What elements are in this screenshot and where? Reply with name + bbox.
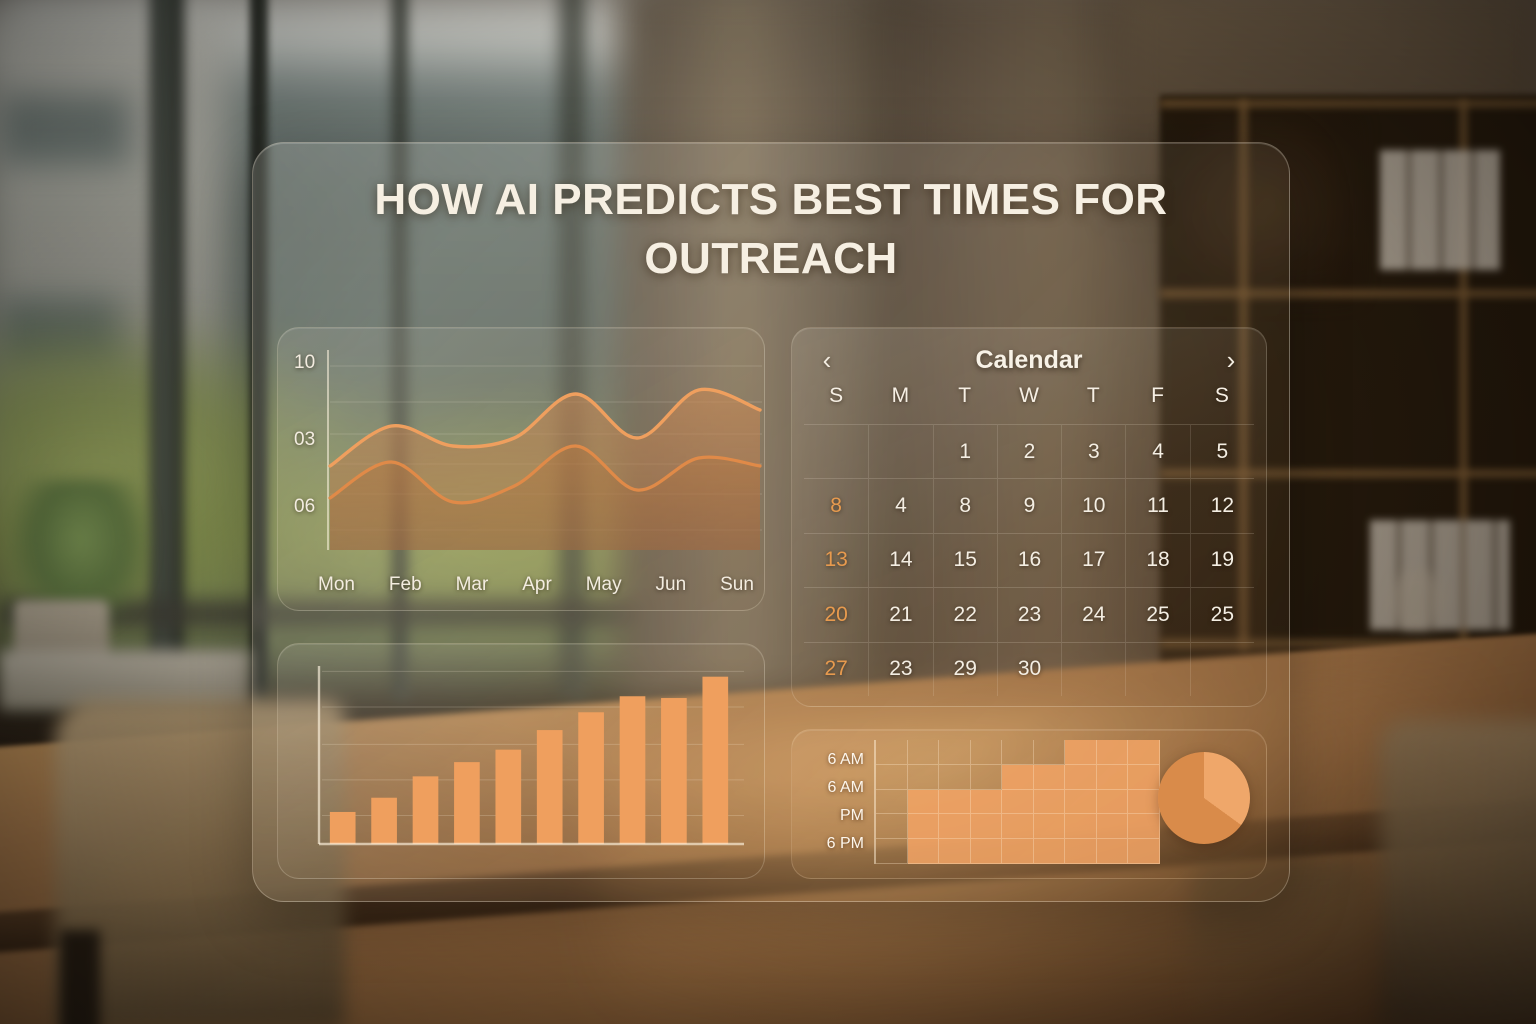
- area-chart-ytick-03: 03: [294, 429, 315, 451]
- area-chart-ytick-06: 06: [294, 496, 315, 518]
- calendar-empty-cell: [804, 424, 868, 478]
- calendar-weekday-5: F: [1125, 384, 1189, 418]
- calendar-weekday-6: S: [1190, 384, 1254, 418]
- calendar-day-cell[interactable]: 18: [1125, 533, 1189, 587]
- heatmap-cell: [971, 839, 1003, 864]
- bar-chart-bar: [371, 798, 397, 844]
- calendar-header: ‹ Calendar ›: [792, 342, 1266, 378]
- calendar-day-cell[interactable]: 20: [804, 587, 868, 641]
- calendar-day-cell[interactable]: 22: [933, 587, 997, 641]
- heatmap-cell: [971, 740, 1003, 765]
- calendar-weekday-3: W: [997, 384, 1061, 418]
- heatmap-cell: [908, 740, 940, 765]
- calendar-day-cell[interactable]: 12: [1190, 478, 1254, 532]
- calendar-day-cell[interactable]: 10: [1061, 478, 1125, 532]
- heatmap-row-labels: 6 AM6 AMPM6 PM: [802, 746, 864, 858]
- calendar-day-cell[interactable]: 2: [997, 424, 1061, 478]
- heatmap-cell: [939, 740, 971, 765]
- heatmap-cell: [1128, 790, 1160, 815]
- calendar-card: ‹ Calendar › SMTWTFS 1234584891011121314…: [791, 327, 1267, 707]
- heatmap-cell: [1097, 765, 1129, 790]
- heatmap-cell: [939, 839, 971, 864]
- calendar-day-grid[interactable]: 1234584891011121314151617181920212223242…: [804, 424, 1254, 696]
- area-chart-xtick-6: Sun: [720, 574, 754, 596]
- bar-chart-bar: [661, 698, 687, 844]
- calendar-empty-cell: [1125, 642, 1189, 696]
- calendar-day-cell[interactable]: 30: [997, 642, 1061, 696]
- calendar-day-cell[interactable]: 14: [868, 533, 932, 587]
- heatmap-cell: [1002, 839, 1034, 864]
- heatmap-cell: [1097, 740, 1129, 765]
- calendar-day-cell[interactable]: 21: [868, 587, 932, 641]
- bar-chart-bar: [578, 712, 604, 844]
- area-chart-ytick-10: 10: [294, 352, 315, 374]
- heatmap-cell: [1128, 814, 1160, 839]
- area-chart-xtick-4: May: [586, 574, 622, 596]
- calendar-day-cell[interactable]: 1: [933, 424, 997, 478]
- heatmap-cell: [1128, 839, 1160, 864]
- calendar-day-cell[interactable]: 11: [1125, 478, 1189, 532]
- calendar-day-cell[interactable]: 8: [933, 478, 997, 532]
- calendar-weekday-2: T: [933, 384, 997, 418]
- bar-chart-bar: [454, 762, 480, 844]
- glass-dashboard-panel: HOW AI PREDICTS BEST TIMES FOR OUTREACH …: [252, 142, 1290, 902]
- calendar-title: Calendar: [840, 346, 1218, 375]
- heatmap-cell: [908, 790, 940, 815]
- heatmap-cell: [908, 765, 940, 790]
- heatmap-cell: [1034, 740, 1066, 765]
- area-chart-plot: [326, 350, 764, 558]
- bar-chart-plot: [316, 666, 752, 862]
- heatmap-row-label-2: PM: [840, 807, 864, 825]
- bar-chart-bar: [495, 750, 521, 844]
- heatmap-cell: [939, 765, 971, 790]
- heatmap-cell: [939, 814, 971, 839]
- area-chart-xtick-5: Jun: [656, 574, 687, 596]
- area-chart-card: 10 03 06 MonFebMarAprMayJunSun: [277, 327, 765, 611]
- area-chart-xtick-1: Feb: [389, 574, 422, 596]
- area-chart-x-axis-labels: MonFebMarAprMayJunSun: [318, 574, 754, 596]
- area-chart-xtick-0: Mon: [318, 574, 355, 596]
- calendar-weekday-4: T: [1061, 384, 1125, 418]
- pie-chart: [1158, 752, 1250, 844]
- heatmap-cell: [1034, 814, 1066, 839]
- heatmap-cell: [1002, 740, 1034, 765]
- heatmap-cell: [876, 790, 908, 815]
- heatmap-cell: [971, 790, 1003, 815]
- calendar-day-cell[interactable]: 13: [804, 533, 868, 587]
- calendar-day-cell[interactable]: 25: [1190, 587, 1254, 641]
- bar-chart-card: [277, 643, 765, 879]
- calendar-day-cell[interactable]: 4: [868, 478, 932, 532]
- bar-chart-bar: [537, 730, 563, 844]
- heatmap-cell: [1065, 839, 1097, 864]
- calendar-empty-cell: [1061, 642, 1125, 696]
- heatmap-cell: [876, 814, 908, 839]
- calendar-day-cell[interactable]: 23: [997, 587, 1061, 641]
- chevron-left-icon[interactable]: ‹: [814, 347, 840, 373]
- bar-chart-bar: [413, 776, 439, 844]
- calendar-empty-cell: [868, 424, 932, 478]
- calendar-day-cell[interactable]: 23: [868, 642, 932, 696]
- heatmap-cell: [1097, 790, 1129, 815]
- heatmap-cell: [1034, 790, 1066, 815]
- calendar-day-cell[interactable]: 27: [804, 642, 868, 696]
- heatmap-cell: [1128, 765, 1160, 790]
- heatmap-row-label-1: 6 AM: [828, 779, 864, 797]
- calendar-day-cell[interactable]: 5: [1190, 424, 1254, 478]
- heatmap-cell: [1065, 765, 1097, 790]
- heatmap-cell: [908, 814, 940, 839]
- calendar-day-cell[interactable]: 25: [1125, 587, 1189, 641]
- heatmap-cell: [971, 765, 1003, 790]
- heatmap-cell: [1065, 814, 1097, 839]
- calendar-empty-cell: [1190, 642, 1254, 696]
- bar-chart-bar: [330, 812, 356, 844]
- calendar-day-cell[interactable]: 4: [1125, 424, 1189, 478]
- heatmap-cell: [1097, 839, 1129, 864]
- calendar-day-cell[interactable]: 15: [933, 533, 997, 587]
- heatmap-cell: [876, 839, 908, 864]
- heatmap-cell: [1002, 814, 1034, 839]
- calendar-day-cell[interactable]: 19: [1190, 533, 1254, 587]
- heatmap-cell: [1128, 740, 1160, 765]
- heatmap-cell: [908, 839, 940, 864]
- calendar-day-cell[interactable]: 24: [1061, 587, 1125, 641]
- calendar-day-cell[interactable]: 8: [804, 478, 868, 532]
- heatmap-cell: [939, 790, 971, 815]
- heatmap-row-label-0: 6 AM: [828, 751, 864, 769]
- chevron-right-icon[interactable]: ›: [1218, 347, 1244, 373]
- heatmap-row-label-3: 6 PM: [827, 835, 864, 853]
- heatmap-grid: [874, 740, 1160, 864]
- heatmap-cell: [1002, 765, 1034, 790]
- page-title: HOW AI PREDICTS BEST TIMES FOR OUTREACH: [253, 171, 1289, 289]
- calendar-weekday-1: M: [868, 384, 932, 418]
- heatmap-card: 6 AM6 AMPM6 PM: [791, 729, 1267, 879]
- heatmap-cell: [876, 765, 908, 790]
- heatmap-cell: [1034, 839, 1066, 864]
- heatmap-cell: [1065, 740, 1097, 765]
- heatmap-cell: [1034, 765, 1066, 790]
- bar-chart-bar: [620, 696, 646, 844]
- calendar-day-cell[interactable]: 9: [997, 478, 1061, 532]
- calendar-day-cell[interactable]: 16: [997, 533, 1061, 587]
- calendar-day-cell[interactable]: 17: [1061, 533, 1125, 587]
- calendar-weekday-0: S: [804, 384, 868, 418]
- bar-chart-bar: [702, 677, 728, 844]
- calendar-day-cell[interactable]: 3: [1061, 424, 1125, 478]
- bar-chart-bars: [330, 677, 728, 844]
- area-chart-xtick-2: Mar: [456, 574, 489, 596]
- heatmap-cell: [1097, 814, 1129, 839]
- heatmap-cell: [971, 814, 1003, 839]
- heatmap-cell: [876, 740, 908, 765]
- heatmap-cell: [1065, 790, 1097, 815]
- heatmap-cell: [1002, 790, 1034, 815]
- calendar-day-cell[interactable]: 29: [933, 642, 997, 696]
- calendar-weekday-header: SMTWTFS: [804, 384, 1254, 418]
- area-chart-xtick-3: Apr: [522, 574, 552, 596]
